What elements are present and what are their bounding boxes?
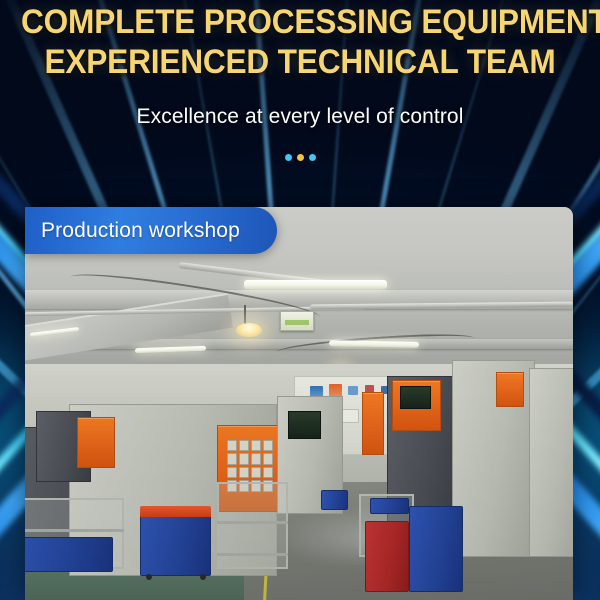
workshop-photo-content: [25, 207, 573, 600]
lamp-stem: [244, 305, 246, 325]
orange-control-panel: [496, 372, 523, 407]
machine-screen: [400, 386, 430, 410]
dot-2: [297, 154, 304, 161]
dot-3: [309, 154, 316, 161]
tool-cart: [25, 537, 113, 572]
blue-cabinet: [409, 506, 464, 592]
orange-control-panel: [362, 392, 384, 455]
blue-bin: [321, 490, 348, 510]
rack-shelf: [25, 529, 124, 532]
fluorescent-tube: [244, 280, 386, 289]
wall-poster: [348, 386, 358, 395]
tool-cart: [140, 514, 211, 577]
headline-line-2: EXPERIENCED TECHNICAL TEAM: [21, 42, 579, 82]
photo-caption-badge: Production workshop: [25, 207, 277, 254]
machine-screen: [288, 411, 321, 439]
trolley-shelf: [217, 553, 288, 556]
dot-separator: [0, 154, 600, 161]
red-cabinet: [365, 521, 409, 592]
hanging-sign: [280, 311, 314, 331]
promo-banner: COMPLETE PROCESSING EQUIPMENT EXPERIENCE…: [0, 0, 600, 600]
orange-control-panel: [77, 417, 115, 468]
dot-1: [285, 154, 292, 161]
subtitle: Excellence at every level of control: [0, 104, 600, 130]
workshop-photo: [25, 207, 573, 600]
cnc-machine: [529, 368, 573, 557]
headline-line-1: COMPLETE PROCESSING EQUIPMENT: [21, 2, 579, 42]
trolley-shelf: [217, 521, 288, 524]
blue-bin: [370, 498, 408, 514]
photo-caption-label: Production workshop: [25, 219, 240, 243]
tool-cart-top: [140, 506, 211, 518]
headline: COMPLETE PROCESSING EQUIPMENT EXPERIENCE…: [0, 2, 600, 82]
ceiling-lamp: [236, 323, 262, 337]
